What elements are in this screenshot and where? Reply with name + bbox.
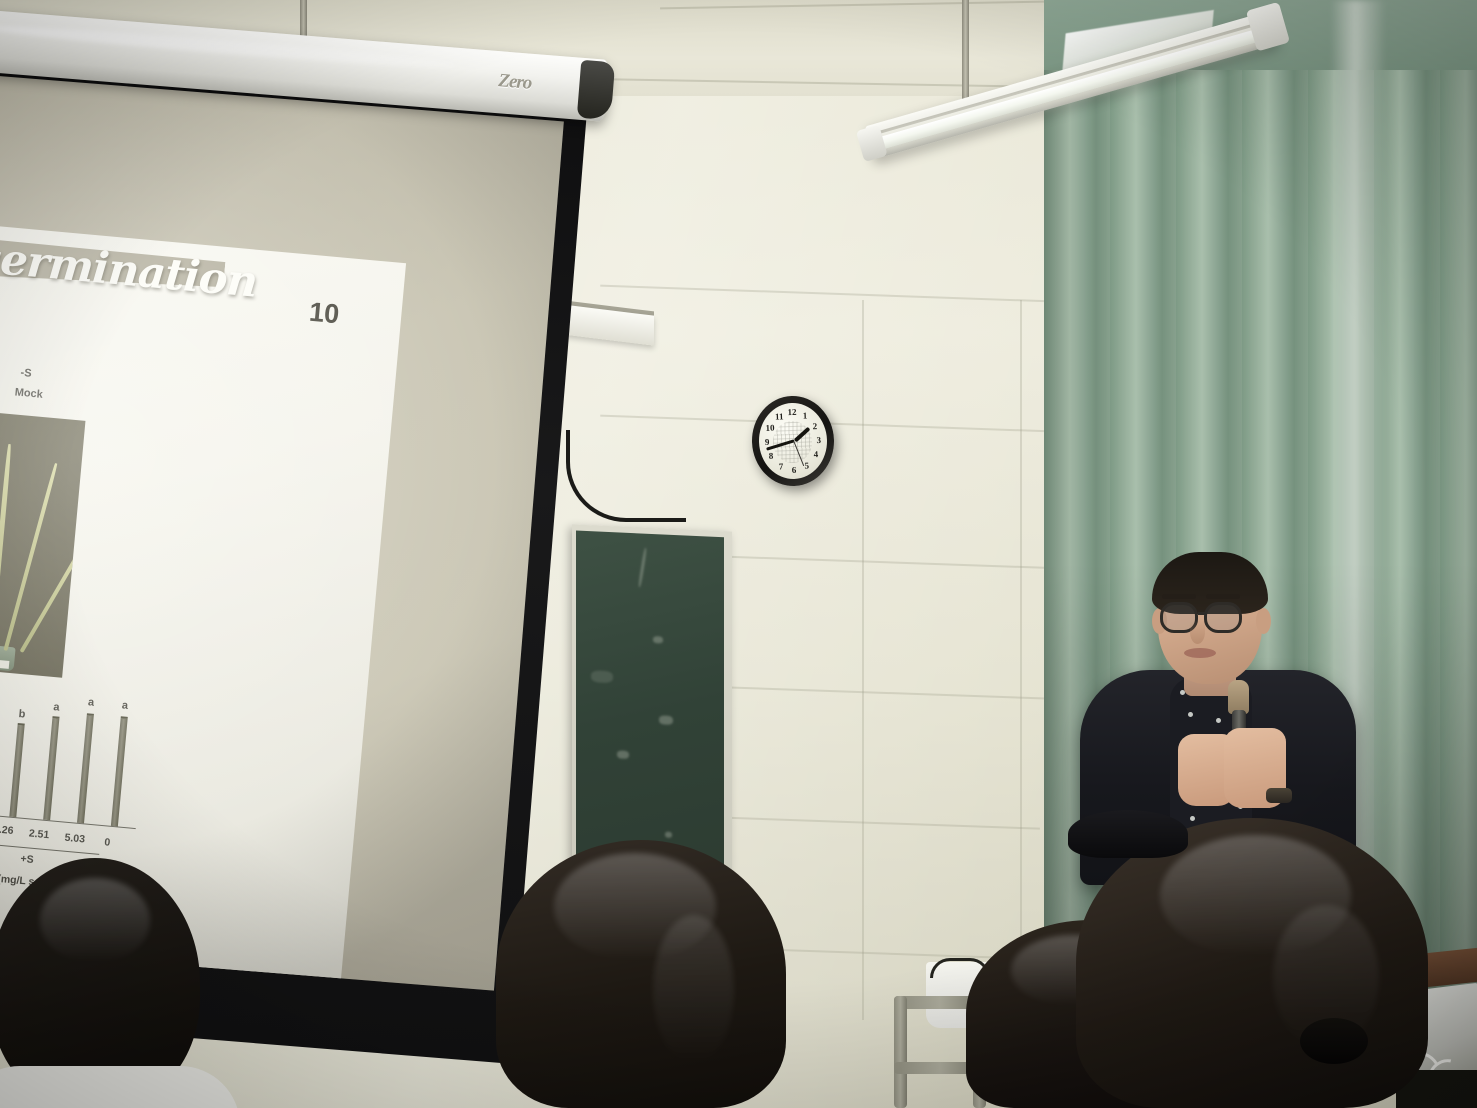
clock-numeral: 4 — [814, 450, 819, 460]
clock-face: 12 1 2 3 4 5 6 7 8 9 10 11 — [758, 402, 829, 480]
clock-numeral: 9 — [765, 437, 770, 447]
speaker-eyebrow-right — [1206, 594, 1240, 599]
chalk-mark — [617, 751, 629, 760]
clock-numeral: 11 — [775, 411, 784, 421]
speaker-mouth — [1184, 648, 1216, 658]
clock-numeral: 8 — [769, 451, 774, 461]
shirt-dot — [1216, 718, 1221, 723]
wall-seam-vertical — [862, 300, 864, 1020]
audience-head-center — [496, 840, 786, 1108]
chalk-mark — [653, 636, 663, 643]
speaker-eyebrow-left — [1162, 594, 1196, 599]
hair-highlight — [653, 915, 734, 1065]
chalk-mark — [591, 670, 613, 683]
clock-numeral: 3 — [816, 435, 821, 445]
hair-tie — [1300, 1018, 1368, 1064]
chalk-mark — [638, 548, 647, 588]
clock-numeral: 10 — [765, 422, 774, 432]
audience-head-right — [1076, 818, 1428, 1108]
audience-shoulder-left — [0, 1066, 240, 1108]
microphone-head — [1228, 680, 1249, 714]
wristwatch — [1266, 788, 1292, 803]
eyeglasses-bridge — [1198, 612, 1206, 615]
speaker-nose — [1190, 620, 1205, 644]
clock-numeral: 12 — [787, 407, 796, 417]
clock-numeral: 6 — [792, 465, 797, 475]
lecture-photo: 12 1 2 3 4 5 6 7 8 9 10 11 — [0, 0, 1477, 1108]
clock-numeral: 7 — [779, 461, 784, 471]
projected-slide: riga germination 10 +S (mg/L soil) k 1.2… — [0, 65, 564, 990]
eyeglasses-right-lens — [1204, 602, 1242, 633]
hair-clip — [1068, 810, 1188, 858]
chair-bar — [894, 996, 907, 1108]
clock-numeral: 1 — [803, 410, 808, 420]
speaker-ear-right — [1256, 608, 1271, 634]
shirt-dot — [1188, 712, 1193, 717]
projector-light-glow — [0, 65, 564, 990]
hair-highlight — [40, 878, 149, 963]
chalk-mark — [665, 832, 672, 838]
clock-numeral: 5 — [804, 461, 809, 471]
chalk-mark — [659, 715, 673, 725]
wall-seam-vertical — [1020, 300, 1022, 1000]
screen-brand-logo: Zero — [498, 70, 533, 95]
shirt-dot — [1190, 816, 1195, 821]
clock-numeral: 2 — [812, 421, 817, 431]
